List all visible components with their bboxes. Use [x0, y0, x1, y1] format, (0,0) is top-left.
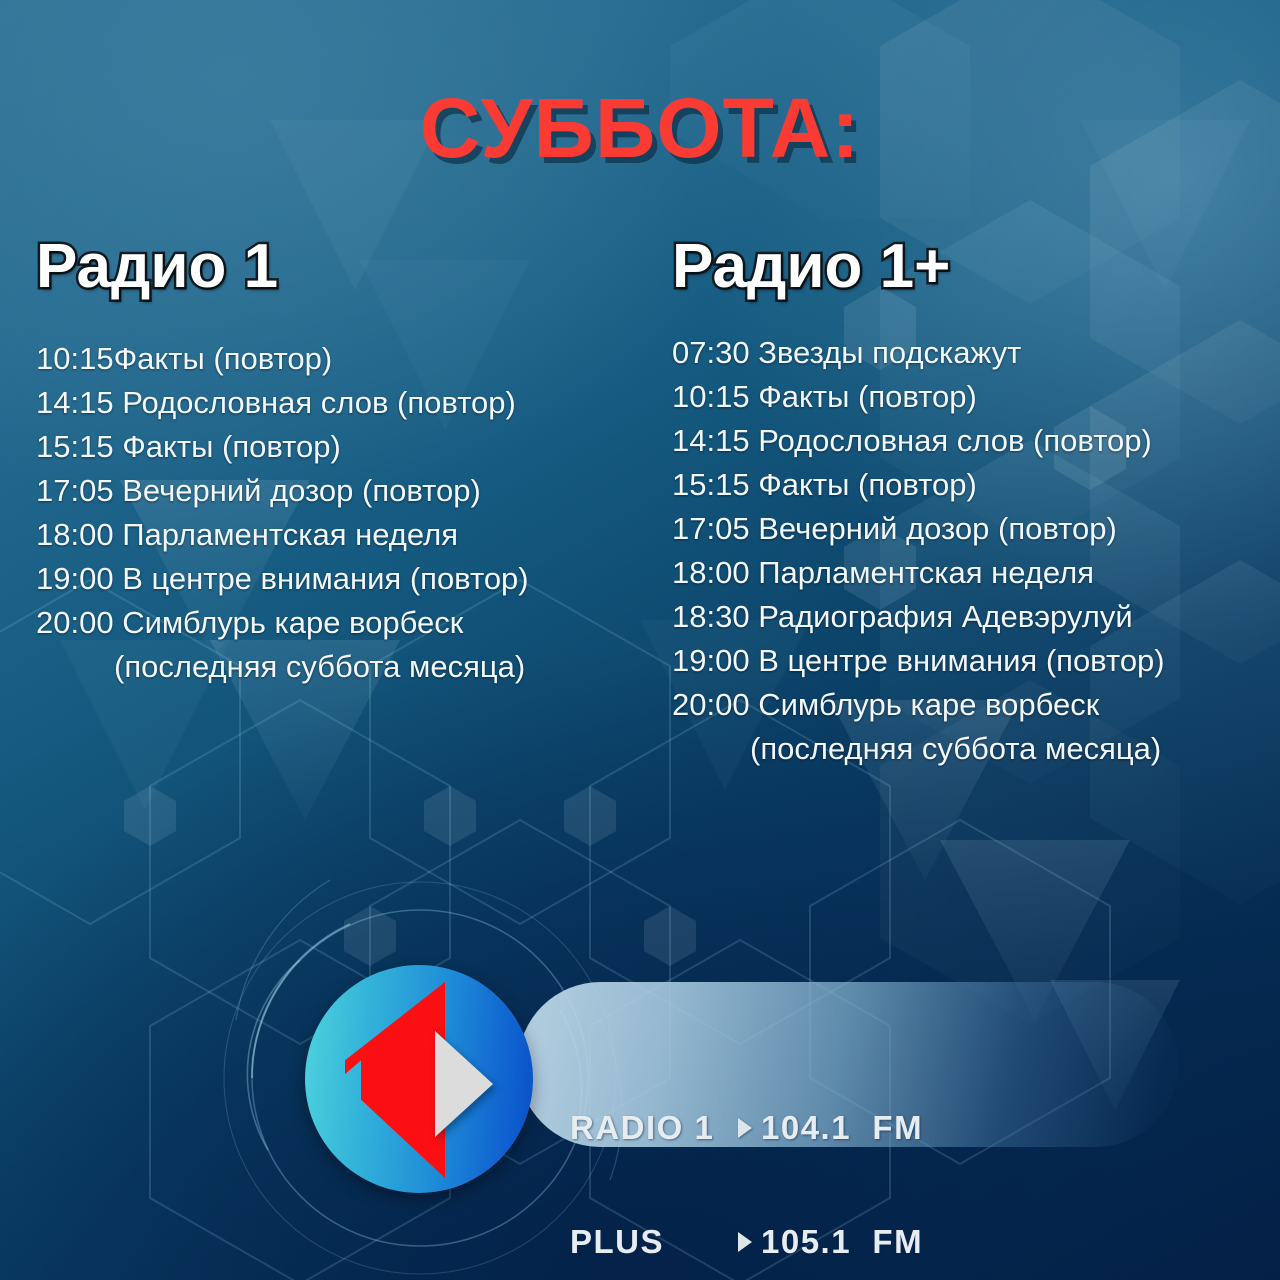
- list-item: 14:15 Родословная слов (повтор): [36, 381, 529, 425]
- list-item: 20:00 Симблурь каре ворбеск: [36, 601, 529, 645]
- left-arrow-icon: [345, 982, 445, 1178]
- column-heading-radio-1-plus: Радио 1+: [672, 236, 950, 298]
- list-item: 15:15 Факты (повтор): [36, 425, 529, 469]
- frequency-list: RADIO 1 104.1 FM PLUS 105.1 FM: [570, 1033, 923, 1280]
- list-item: 10:15Факты (повтор): [36, 337, 529, 381]
- play-caret-icon: [738, 1118, 752, 1138]
- list-item: 18:00 Парламентская неделя: [672, 551, 1165, 595]
- station-name: RADIO 1: [570, 1109, 738, 1147]
- list-item: 20:00 Симблурь каре ворбеск: [672, 683, 1165, 727]
- station-name: PLUS: [570, 1223, 738, 1261]
- list-item: 07:30 Звезды подскажут: [672, 331, 1165, 375]
- list-item: 18:30 Радиография Адевэрулуй: [672, 595, 1165, 639]
- list-item: 17:05 Вечерний дозор (повтор): [672, 507, 1165, 551]
- list-item: 19:00 В центре внимания (повтор): [36, 557, 529, 601]
- schedule-list-radio-1: 10:15Факты (повтор) 14:15 Родословная сл…: [36, 337, 529, 689]
- list-item: 18:00 Парламентская неделя: [36, 513, 529, 557]
- list-item: 15:15 Факты (повтор): [672, 463, 1165, 507]
- list-item: 10:15 Факты (повтор): [672, 375, 1165, 419]
- list-item: 19:00 В центре внимания (повтор): [672, 639, 1165, 683]
- schedule-list-radio-1-plus: 07:30 Звезды подскажут 10:15 Факты (повт…: [672, 331, 1165, 771]
- page-title: СУББОТА:: [0, 86, 1280, 170]
- list-item-continuation: (последняя суббота месяца): [36, 645, 529, 689]
- station-logo: RADIO 1 104.1 FM PLUS 105.1 FM: [283, 955, 983, 1200]
- poster-canvas: СУББОТА: Радио 1 10:15Факты (повтор) 14:…: [0, 0, 1280, 1280]
- frequency-value: 104.1 FM: [761, 1109, 923, 1147]
- list-item-continuation: (последняя суббота месяца): [672, 727, 1165, 771]
- column-heading-radio-1: Радио 1: [36, 236, 278, 298]
- frequency-row: PLUS 105.1 FM: [570, 1223, 923, 1261]
- list-item: 14:15 Родословная слов (повтор): [672, 419, 1165, 463]
- play-triangle-icon: [435, 1031, 493, 1137]
- frequency-value: 105.1 FM: [761, 1223, 923, 1261]
- play-caret-icon: [738, 1232, 752, 1252]
- logo-circle-icon: [305, 965, 533, 1193]
- frequency-row: RADIO 1 104.1 FM: [570, 1109, 923, 1147]
- list-item: 17:05 Вечерний дозор (повтор): [36, 469, 529, 513]
